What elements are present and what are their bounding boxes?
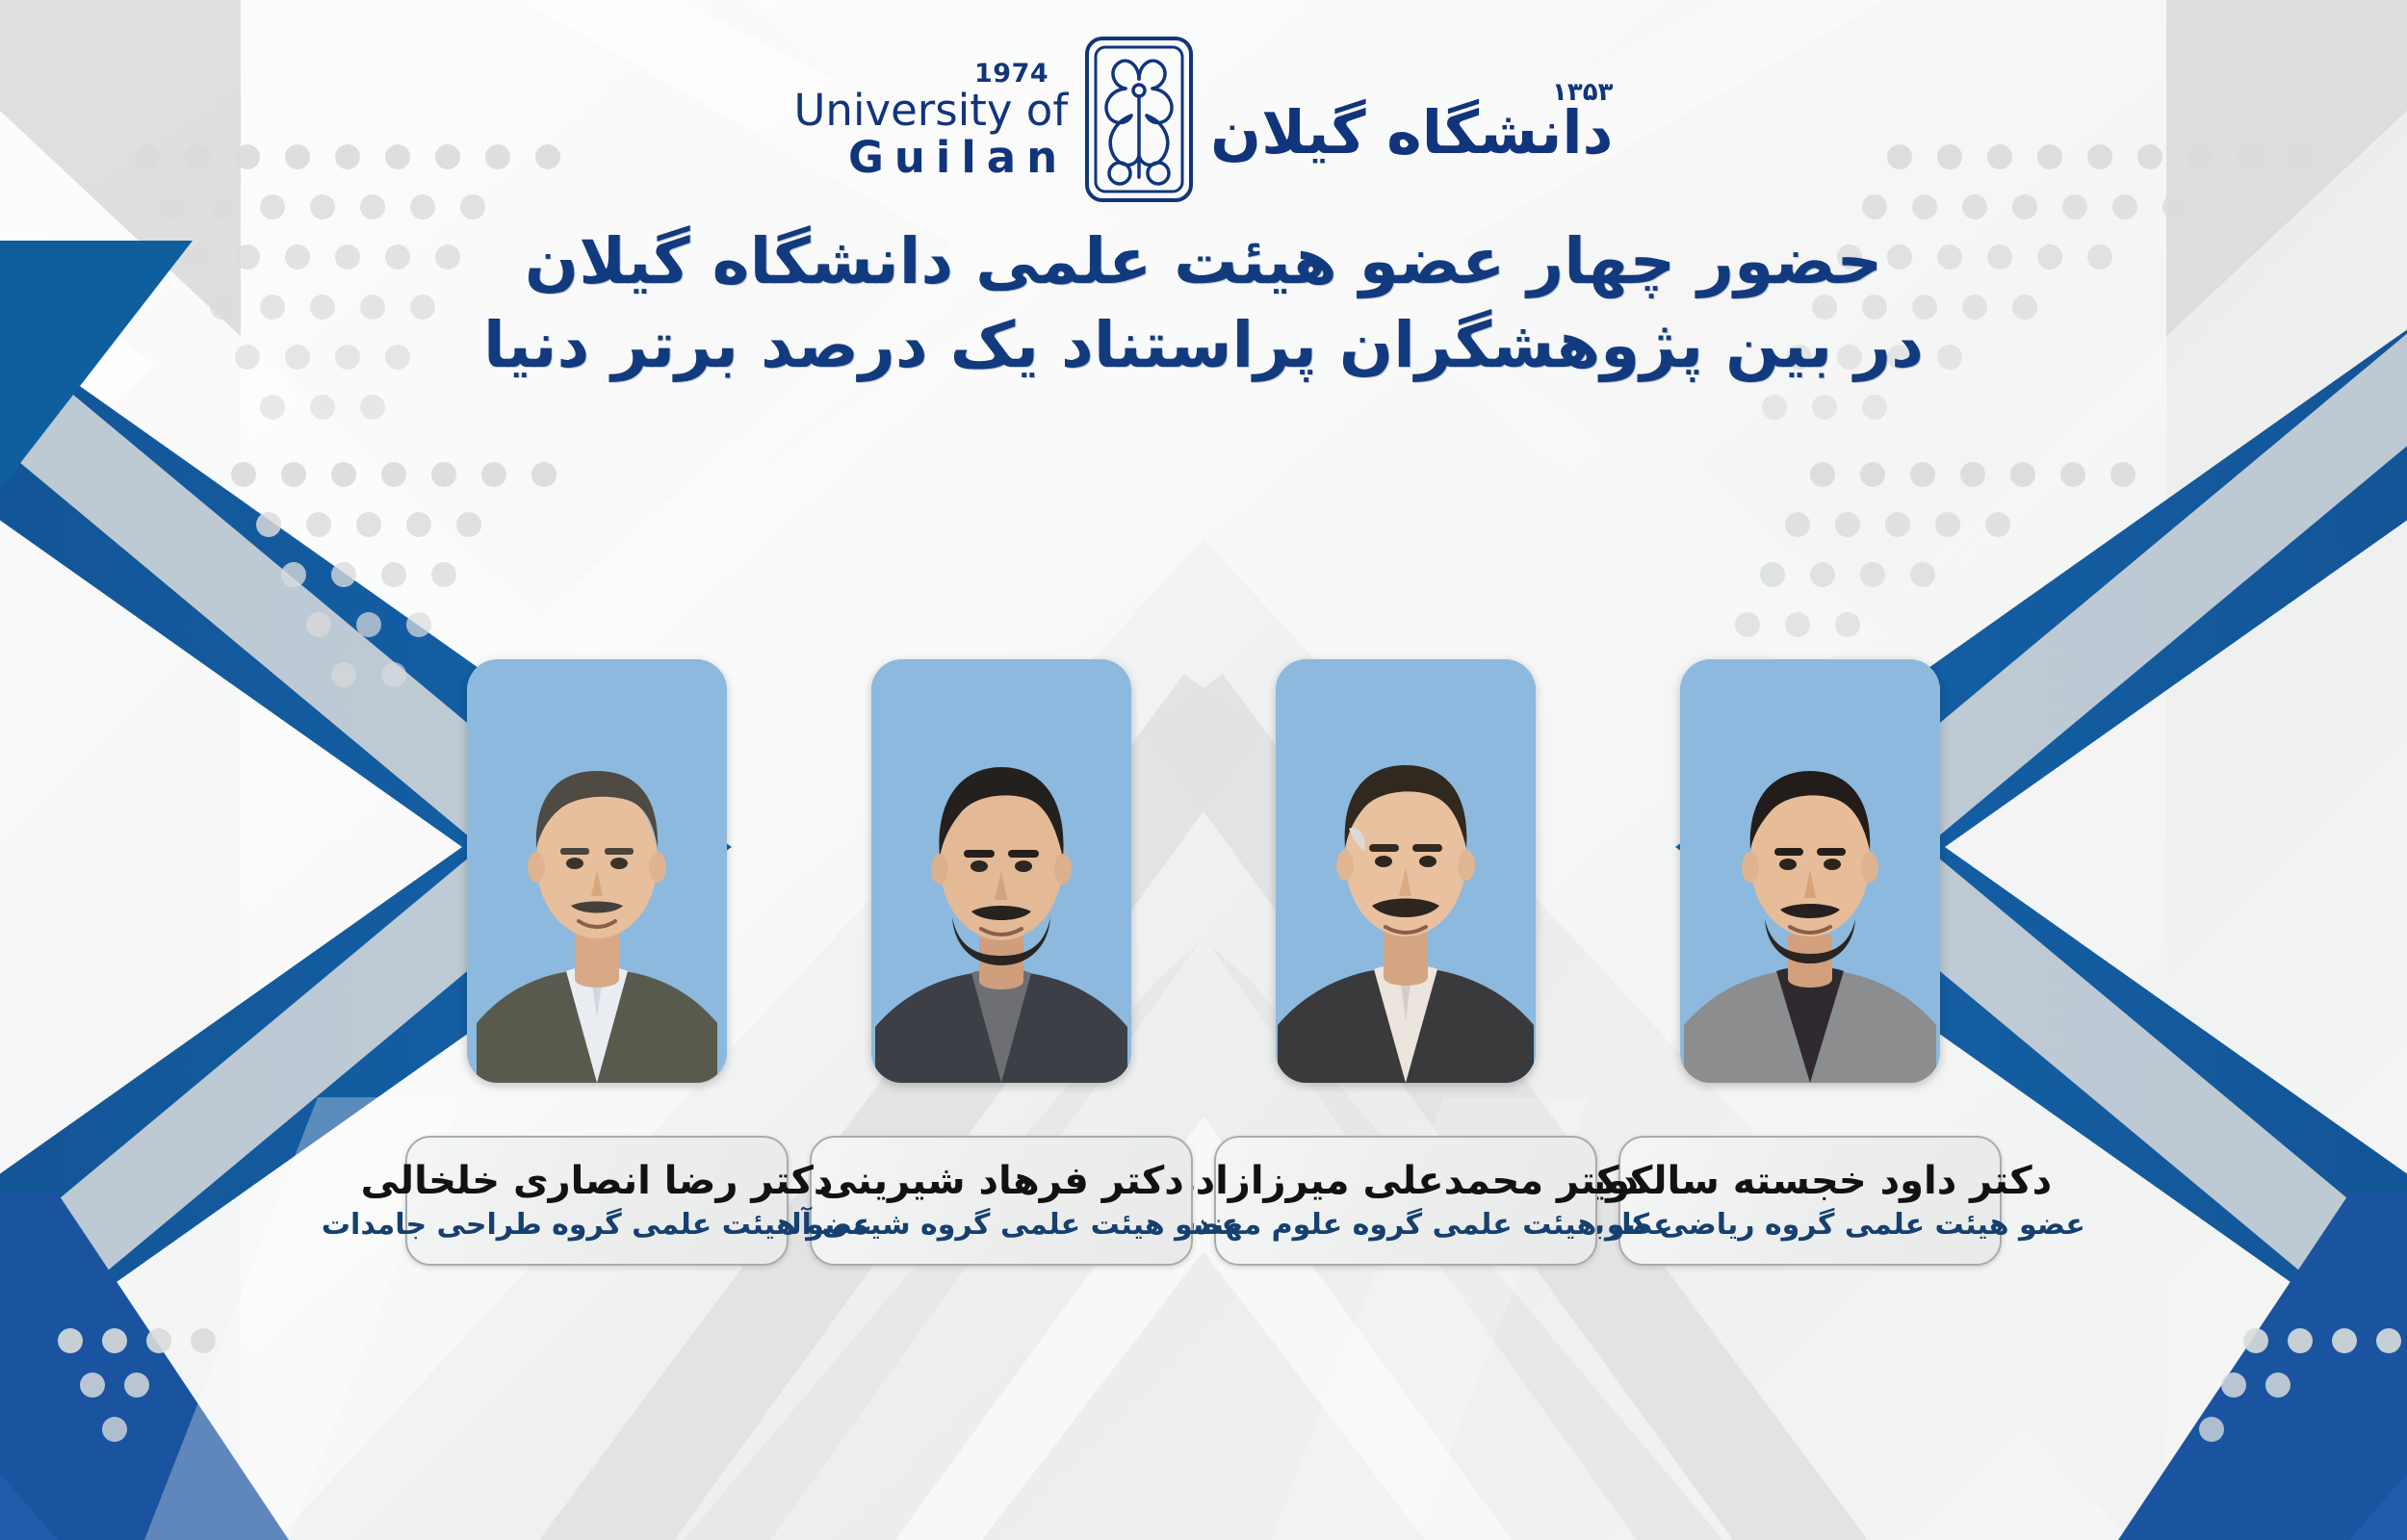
portrait-photo-0 bbox=[467, 659, 727, 1083]
poster-headline: حضور چهار عضو هیئت علمی دانشگاه گیلان در… bbox=[0, 219, 2407, 387]
person-name-3: دکتر داود خجسته سالکویه bbox=[1568, 1160, 2052, 1203]
logo-year-gregorian: 1974 bbox=[974, 61, 1048, 87]
guilan-emblem-icon bbox=[1081, 33, 1197, 210]
logo-university-name-fa: دانشگاه گیلان bbox=[1210, 101, 1613, 166]
headline-line-2: در بین پژوهشگران پراستناد یک درصد برتر د… bbox=[0, 303, 2407, 387]
poster-canvas: 1974 University of Guilan ۱۳۵ bbox=[0, 0, 2407, 1540]
portrait-photo-1 bbox=[871, 659, 1131, 1083]
name-card-1[interactable]: دکتر فرهاد شیرینی عضو هیئت علمی گروه شیم… bbox=[810, 1136, 1193, 1266]
person-2 bbox=[1276, 659, 1536, 1102]
portrait-row bbox=[0, 659, 2407, 1102]
name-card-row: دکتر رضا انصاری خلخالی عضو هیئت علمی گرو… bbox=[0, 1136, 2407, 1266]
person-name-1: دکتر فرهاد شیرینی bbox=[818, 1160, 1184, 1203]
logo-guilan: Guilan bbox=[848, 136, 1068, 179]
name-card-2[interactable]: دکتر محمدعلی میرزازاده عضو هیئت علمی گرو… bbox=[1214, 1136, 1597, 1266]
logo-university-of: University of bbox=[793, 89, 1068, 132]
person-name-0: دکتر رضا انصاری خلخالی bbox=[361, 1160, 834, 1203]
name-card-3[interactable]: دکتر داود خجسته سالکویه عضو هیئت علمی گر… bbox=[1618, 1136, 2002, 1266]
headline-line-1: حضور چهار عضو هیئت علمی دانشگاه گیلان bbox=[0, 219, 2407, 303]
logo-english-text: 1974 University of Guilan bbox=[793, 61, 1068, 183]
person-1 bbox=[871, 659, 1131, 1102]
university-logo: 1974 University of Guilan ۱۳۵ bbox=[0, 33, 2407, 210]
portrait-photo-2 bbox=[1276, 659, 1536, 1083]
portrait-photo-3 bbox=[1680, 659, 1940, 1083]
name-card-0[interactable]: دکتر رضا انصاری خلخالی عضو هیئت علمی گرو… bbox=[405, 1136, 789, 1266]
person-3 bbox=[1680, 659, 1940, 1102]
person-name-2: دکتر محمدعلی میرزازاده bbox=[1173, 1160, 1639, 1203]
person-role-0: عضو هیئت علمی گروه طراحی جامدات bbox=[322, 1209, 872, 1243]
person-0 bbox=[467, 659, 727, 1102]
logo-persian-text: ۱۳۵۳ دانشگاه گیلان bbox=[1210, 78, 1613, 166]
